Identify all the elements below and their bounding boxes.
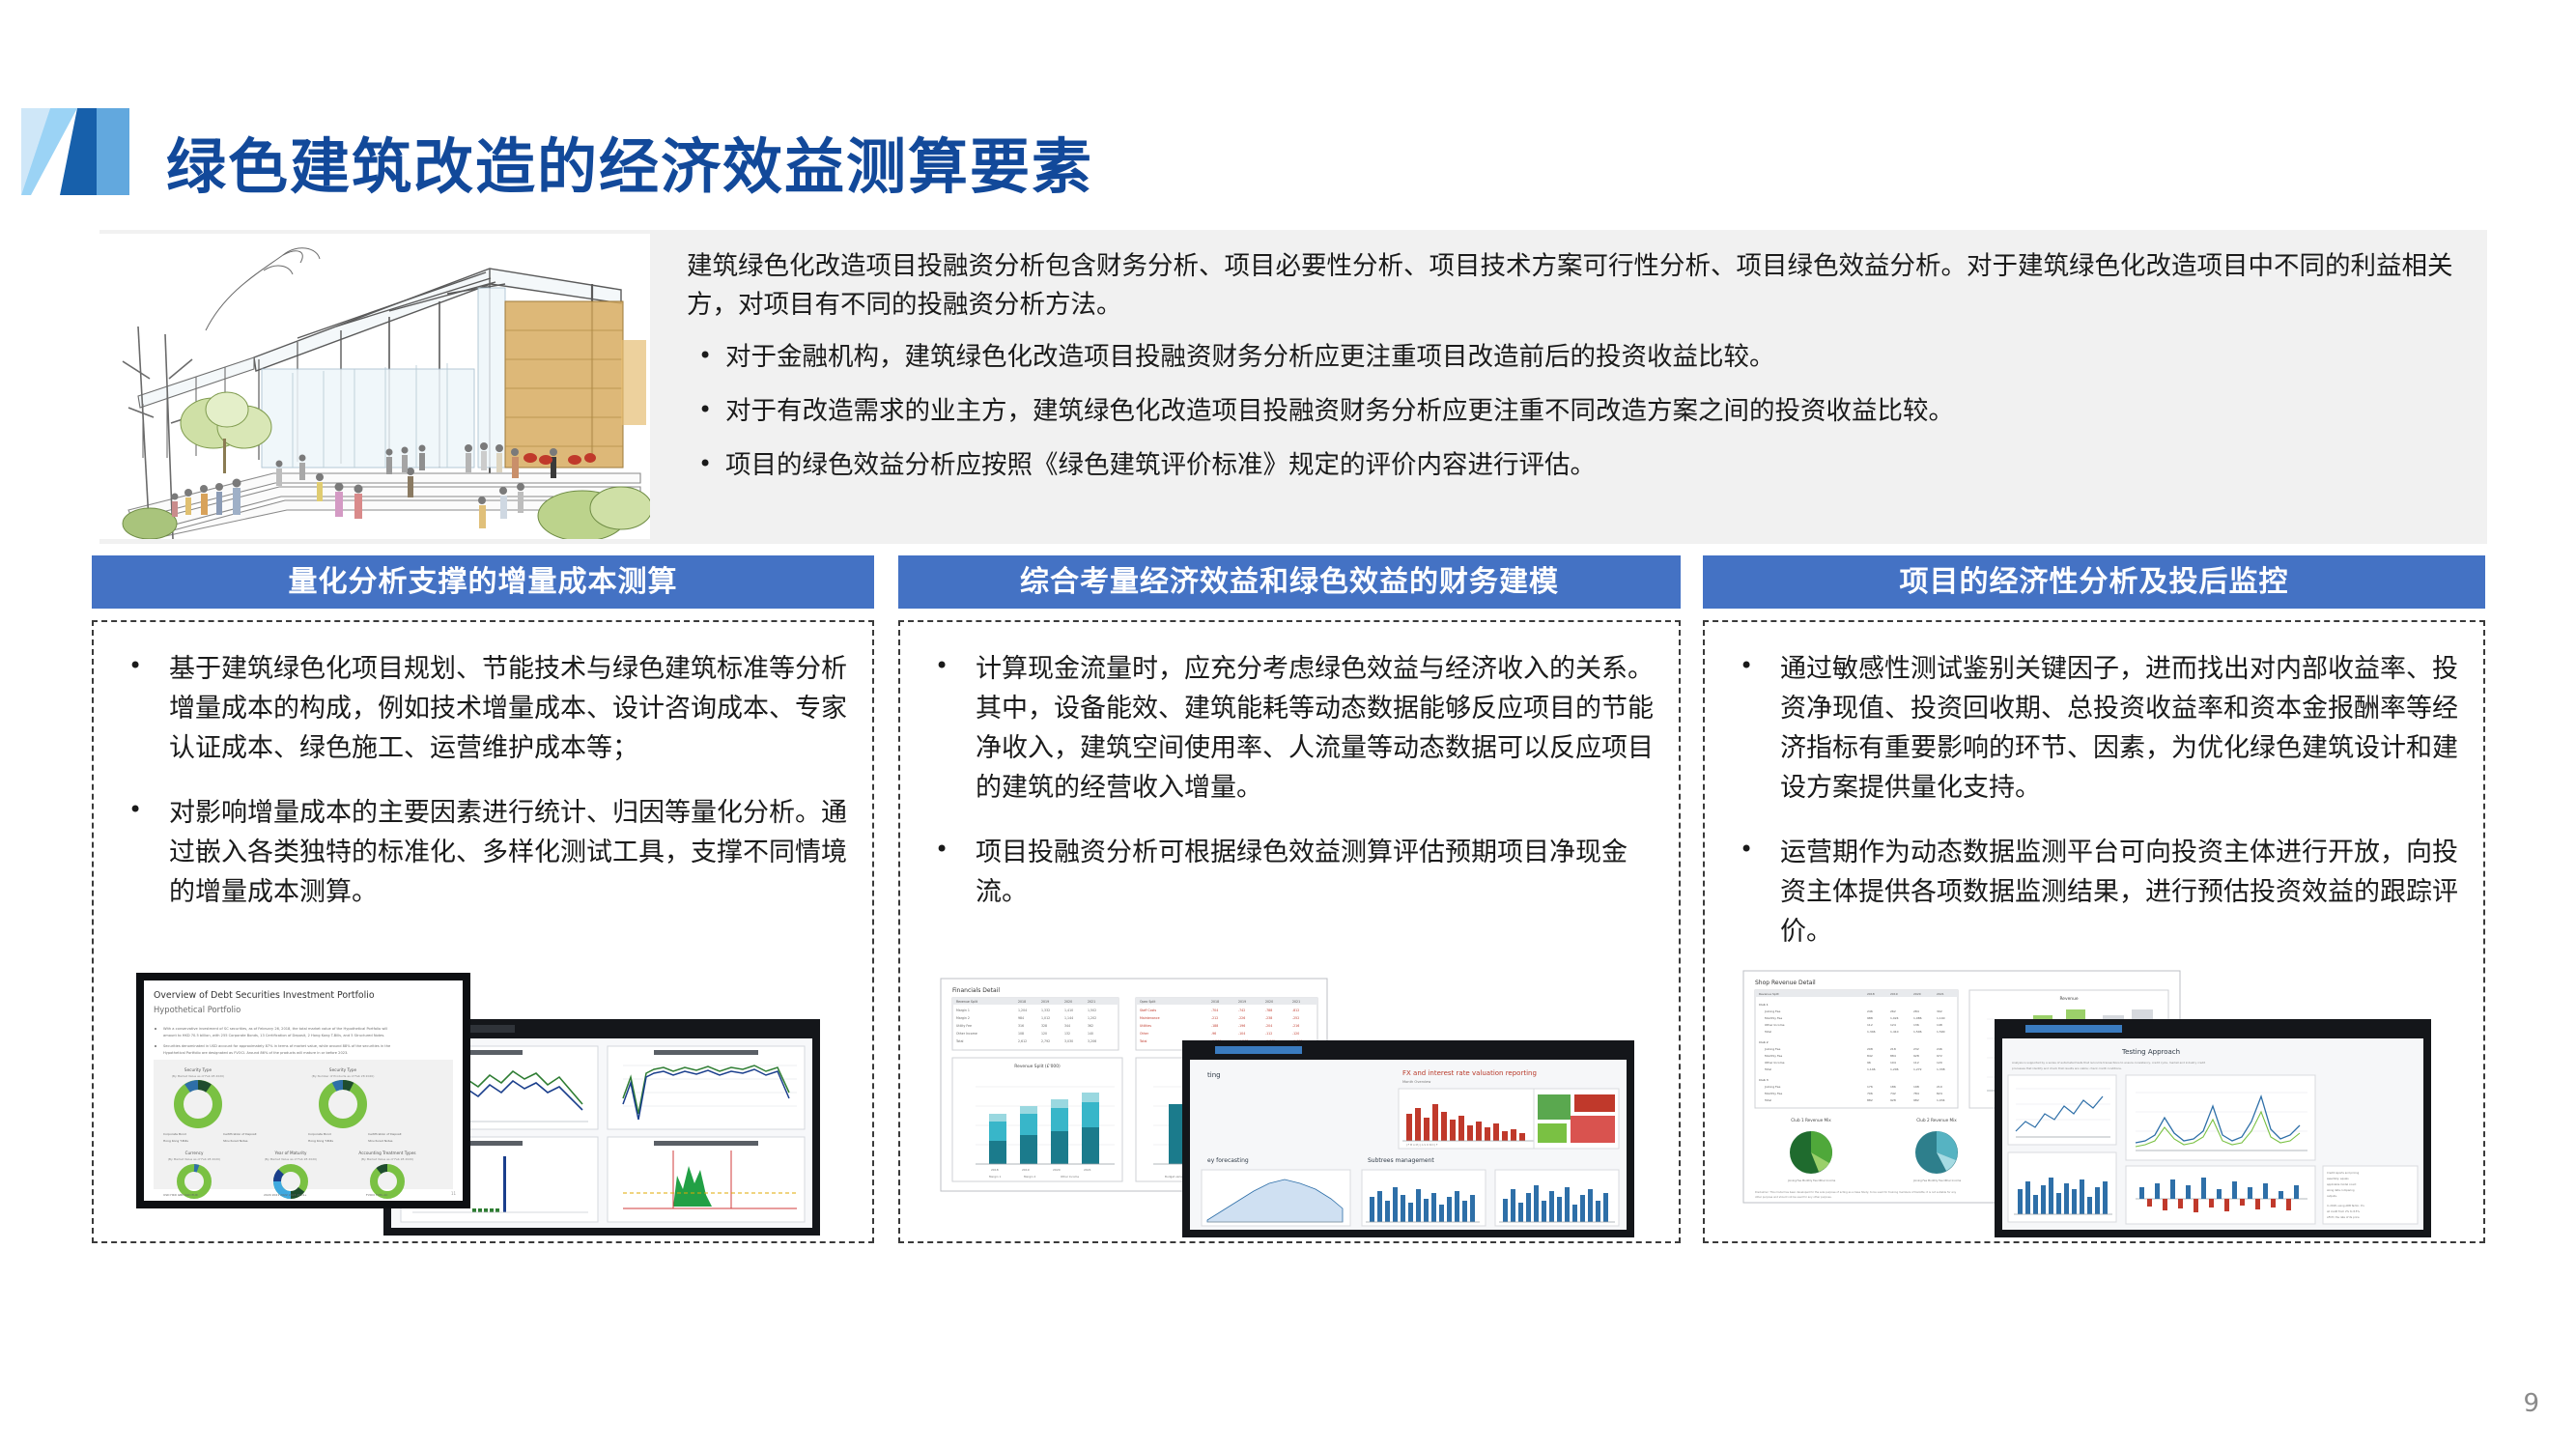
svg-text:Joining Fee: Joining Fee [1764, 1085, 1780, 1089]
svg-text:2019: 2019 [1238, 1000, 1246, 1004]
svg-text:Accounting Treatment Types: Accounting Treatment Types [358, 1151, 415, 1155]
svg-text:328: 328 [1041, 1024, 1047, 1028]
svg-text:Joining Fee: Joining Fee [1764, 1009, 1780, 1013]
svg-text:-188: -188 [1211, 1024, 1218, 1028]
svg-text:1,506: 1,506 [1913, 1030, 1922, 1034]
svg-text:284: 284 [1913, 1009, 1919, 1013]
svg-text:Margin 2: Margin 2 [1024, 1175, 1035, 1179]
svg-text:176: 176 [1867, 1085, 1873, 1089]
svg-text:108: 108 [1018, 1032, 1024, 1036]
svg-text:884: 884 [1890, 1054, 1896, 1058]
svg-text:Other Income: Other Income [956, 1032, 977, 1036]
svg-text:2018: 2018 [1211, 1000, 1219, 1004]
svg-text:Club 2: Club 2 [1759, 1040, 1769, 1044]
svg-text:1,410: 1,410 [1890, 1030, 1899, 1034]
column-2-thumbnails: Financials Detail Revenue Split 20182019… [900, 952, 1679, 1241]
svg-text:362: 362 [1088, 1024, 1093, 1028]
svg-text:Total: Total [1764, 1030, 1771, 1034]
svg-text:Subtrees management: Subtrees management [1368, 1157, 1434, 1164]
svg-text:246: 246 [1867, 1009, 1873, 1013]
svg-text:2020: 2020 [1265, 1000, 1273, 1004]
svg-text:ey forecasting: ey forecasting [1207, 1157, 1249, 1164]
svg-text:Opex Split: Opex Split [1140, 1000, 1156, 1004]
svg-text:-112: -112 [1265, 1032, 1272, 1036]
svg-text:Certification of Deposit: Certification of Deposit [223, 1132, 257, 1136]
svg-text:1,024: 1,024 [1890, 1016, 1899, 1020]
column-3-header: 项目的经济性分析及投后监控 [1703, 555, 2485, 609]
svg-text:1,204: 1,204 [1018, 1009, 1027, 1012]
svg-text:Club 3: Club 3 [1759, 1078, 1769, 1082]
intro-panel: 建筑绿色化改造项目投融资分析包含财务分析、项目必要性分析、项目技术方案可行性分析… [99, 230, 2487, 544]
svg-text:982: 982 [1913, 1098, 1919, 1102]
intro-bullet-1: 对于金融机构，建筑绿色化改造项目投融资财务分析应更注重项目改造前后的投资收益比较… [687, 338, 2454, 377]
svg-text:Currency: Currency [185, 1151, 204, 1155]
svg-text:AFCH, the rate of its price: AFCH, the rate of its price [2327, 1215, 2360, 1219]
svg-text:FX and interest rate valuation: FX and interest rate valuation reporting [1402, 1069, 1537, 1077]
column-1-bullet-1: 基于建筑绿色化项目规划、节能技术与绿色建筑标准等分析增量成本的构成，例如技术增量… [103, 649, 851, 768]
svg-text:Margin 1: Margin 1 [956, 1009, 970, 1012]
svg-text:198: 198 [1913, 1085, 1919, 1089]
svg-text:outputs.: outputs. [2327, 1194, 2337, 1198]
svg-text:120: 120 [1041, 1032, 1047, 1036]
svg-text:Club 1 Revenue Mix: Club 1 Revenue Mix [1791, 1118, 1831, 1122]
svg-text:Corporate Bond: Corporate Bond [308, 1132, 331, 1136]
svg-text:132: 132 [1064, 1032, 1070, 1036]
svg-text:-812: -812 [1292, 1009, 1299, 1012]
svg-text:Monthly Fee: Monthly Fee [1765, 1092, 1782, 1095]
svg-text:J F M A M J J A S O N D J F: J F M A M J J A S O N D J F [1405, 1143, 1438, 1147]
column-1-bullet-list: 基于建筑绿色化项目规划、节能技术与绿色建筑标准等分析增量成本的构成，例如技术增量… [94, 622, 872, 912]
svg-text:302: 302 [1937, 1009, 1942, 1013]
svg-text:1,206: 1,206 [1890, 1067, 1899, 1071]
svg-text:Club 1: Club 1 [1759, 1003, 1769, 1007]
svg-text:2020: 2020 [1064, 1000, 1072, 1004]
svg-text:Structured Notes: Structured Notes [223, 1139, 248, 1143]
svg-text:Structured Notes: Structured Notes [368, 1139, 393, 1143]
page-number: 9 [2523, 1389, 2539, 1418]
svg-text:(By Market Value as of Feb 28: (By Market Value as of Feb 28 2020) [361, 1157, 413, 1161]
svg-text:Total: Total [1764, 1098, 1771, 1102]
svg-text:1,502: 1,502 [1088, 1009, 1096, 1012]
svg-text:(By Market Value as of Feb 28: (By Market Value as of Feb 28 2020) [265, 1157, 317, 1161]
svg-text:2,612: 2,612 [1018, 1039, 1027, 1043]
svg-text:Margin 2: Margin 2 [956, 1016, 970, 1020]
svg-text:988: 988 [1867, 1016, 1873, 1020]
svg-text:-212: -212 [1211, 1016, 1218, 1020]
page-title: 绿色建筑改造的经济效益测算要素 [166, 118, 1093, 205]
svg-text:210: 210 [1937, 1085, 1942, 1089]
svg-text:928: 928 [1890, 1098, 1896, 1102]
svg-text:-238: -238 [1265, 1016, 1272, 1020]
svg-text:Joining Fee Monthly Fee Ot: Joining Fee Monthly Fee Other Income [1912, 1179, 1962, 1182]
svg-text:assembly; equals: assembly; equals [2327, 1177, 2349, 1180]
svg-text:2019: 2019 [1890, 992, 1898, 996]
svg-text:2021: 2021 [1084, 1168, 1091, 1172]
svg-text:1,012: 1,012 [1041, 1016, 1050, 1020]
svg-text:2021: 2021 [1292, 1000, 1300, 1004]
svg-text:Monthly Fee: Monthly Fee [1765, 1016, 1782, 1020]
svg-text:applicable model count: applicable model count [2327, 1182, 2356, 1186]
svg-text:Utility Fee: Utility Fee [956, 1024, 972, 1028]
svg-text:Staff Costs: Staff Costs [1140, 1009, 1157, 1012]
svg-text:Revenue Split (£'000): Revenue Split (£'000) [1014, 1064, 1061, 1069]
svg-text:2,792: 2,792 [1041, 1039, 1050, 1043]
column-3-thumbnails: Shop Revenue Detail Revenue Split 201820… [1705, 952, 2483, 1241]
column-2-bullet-1: 计算现金流量时，应充分考虑绿色效益与经济收入的关系。其中，设备能效、建筑能耗等动… [910, 649, 1657, 808]
svg-text:2021: 2021 [1088, 1000, 1095, 1004]
svg-text:Total: Total [1139, 1039, 1147, 1043]
svg-text:Certification of Deposit: Certification of Deposit [368, 1132, 402, 1136]
svg-text:3,030: 3,030 [1064, 1039, 1073, 1043]
svg-text:-96: -96 [1211, 1032, 1216, 1036]
svg-text:2018: 2018 [991, 1168, 999, 1172]
svg-text:Other Income: Other Income [1061, 1175, 1079, 1179]
svg-text:Maintenance: Maintenance [1140, 1016, 1160, 1020]
svg-text:(By Market Value as of Feb 28: (By Market Value as of Feb 28 2020) [172, 1074, 224, 1078]
svg-text:-226: -226 [1238, 1016, 1245, 1020]
svg-text:186: 186 [1890, 1085, 1896, 1089]
svg-text:1,332: 1,332 [1041, 1009, 1050, 1012]
n-logo [21, 108, 129, 195]
svg-text:-704: -704 [1211, 1009, 1218, 1012]
svg-text:Total: Total [955, 1039, 964, 1043]
svg-text:Corporate Bond: Corporate Bond [163, 1132, 186, 1136]
svg-text:ting: ting [1207, 1071, 1221, 1079]
column-2-bullet-2: 项目投融资分析可根据绿色效益测算评估预期项目净现金流。 [910, 833, 1657, 912]
svg-text:2020 2021 2022 2023 2024+: 2020 2021 2022 2023 2024+ [264, 1193, 307, 1197]
svg-text:Revenue Split: Revenue Split [1759, 992, 1779, 996]
svg-text:Club 2 Revenue Mix: Club 2 Revenue Mix [1916, 1118, 1957, 1122]
svg-text:-216: -216 [1292, 1024, 1299, 1028]
thumb-doc-title-3: Shop Revenue Detail [1755, 980, 1816, 986]
svg-text:Year of Maturity: Year of Maturity [273, 1151, 307, 1155]
svg-text:(By Number of Products as of F: (By Number of Products as of Feb 28 2020… [312, 1074, 375, 1078]
thumb-doc-subtitle: Hypothetical Portfolio [154, 1005, 241, 1014]
svg-text:along data comparing: along data comparing [2327, 1188, 2355, 1192]
svg-text:all credit from 2% to 8.5%: all credit from 2% to 8.5% [2327, 1209, 2360, 1213]
svg-text:Joining Fee Monthly Fee Ot: Joining Fee Monthly Fee Other Income [1787, 1179, 1836, 1182]
column-1-header: 量化分析支撑的增量成本测算 [92, 555, 874, 609]
column-3-bullet-2: 运营期作为动态数据监测平台可向投资主体进行开放，向投资主体提供各项数据监测结果，… [1714, 833, 2462, 952]
intro-paragraph: 建筑绿色化改造项目投融资分析包含财务分析、项目必要性分析、项目技术方案可行性分析… [687, 247, 2454, 325]
svg-text:112: 112 [1867, 1023, 1873, 1027]
svg-text:Testing Approach: Testing Approach [2121, 1048, 2180, 1056]
svg-text:1,590: 1,590 [1937, 1030, 1945, 1034]
svg-text:2020: 2020 [1913, 992, 1921, 996]
svg-text:344: 344 [1064, 1024, 1070, 1028]
column-2-body: 计算现金流量时，应充分考虑绿色效益与经济收入的关系。其中，设备能效、建筑能耗等动… [898, 620, 1681, 1243]
svg-text:2018: 2018 [1018, 1000, 1026, 1004]
thumb-doc-title-2: Financials Detail [952, 987, 1000, 994]
svg-text:In 2018, using ADB factor, it': In 2018, using ADB factor, it's [2327, 1204, 2364, 1207]
svg-text:Hypothetical Portfolio are des: Hypothetical Portfolio are designated as… [163, 1051, 348, 1055]
svg-text:1,140: 1,140 [1937, 1016, 1945, 1020]
svg-text:262: 262 [1890, 1009, 1896, 1013]
svg-text:824: 824 [1937, 1092, 1942, 1095]
svg-text:1,202: 1,202 [1088, 1016, 1096, 1020]
svg-text:1,146: 1,146 [1867, 1067, 1876, 1071]
column-1-bullet-2: 对影响增量成本的主要因素进行统计、归因等量化分析。通过嵌入各类独特的标准化、多样… [103, 793, 851, 912]
svg-text:processes that identify and ch: processes that identify and check that r… [2012, 1066, 2122, 1070]
column-2-header: 综合考量经济效益和绿色效益的财务建模 [898, 555, 1681, 609]
column-3-bullet-list: 通过敏感性测试鉴别关键因子，进而找出对内部收益率、投资净现值、投资回收期、总投资… [1705, 622, 2483, 952]
intro-bullet-3: 项目的绿色效益分析应按照《绿色建筑评价标准》规定的评价内容进行评估。 [687, 446, 2454, 485]
svg-text:Margin 1: Margin 1 [989, 1175, 1001, 1179]
svg-text:-742: -742 [1238, 1009, 1245, 1012]
column-financial-modeling: 综合考量经济效益和绿色效益的财务建模 计算现金流量时，应充分考虑绿色效益与经济收… [898, 555, 1681, 1243]
column-economic-analysis: 项目的经济性分析及投后监控 通过敏感性测试鉴别关键因子，进而找出对内部收益率、投… [1703, 555, 2485, 1243]
svg-text:136: 136 [1913, 1023, 1919, 1027]
svg-text:784: 784 [1913, 1092, 1919, 1095]
svg-text:842: 842 [1867, 1054, 1873, 1058]
svg-text:2019: 2019 [1022, 1168, 1030, 1172]
svg-text:-104: -104 [1238, 1032, 1245, 1036]
column-1-body: 基于建筑绿色化项目规划、节能技术与绿色建筑标准等分析增量成本的构成，例如技术增量… [92, 620, 874, 1243]
svg-text:928: 928 [1913, 1054, 1919, 1058]
svg-text:Joining Fee: Joining Fee [1764, 1047, 1780, 1051]
svg-text:Other: Other [1140, 1032, 1149, 1036]
svg-text:148: 148 [1937, 1023, 1942, 1027]
svg-text:2019: 2019 [1041, 1000, 1049, 1004]
svg-text:Hong Kong T-Bills: Hong Kong T-Bills [308, 1139, 333, 1143]
svg-text:706: 706 [1867, 1092, 1873, 1095]
svg-text:FVOCI FVPL AC: FVOCI FVPL AC [366, 1193, 387, 1197]
svg-text:Month Overview: Month Overview [1402, 1080, 1430, 1084]
intro-text-block: 建筑绿色化改造项目投融资分析包含财务分析、项目必要性分析、项目技术方案可行性分析… [687, 247, 2454, 500]
column-3-body: 通过敏感性测试鉴别关键因子，进而找出对内部收益率、投资净现值、投资回收期、总投资… [1703, 620, 2485, 1243]
svg-text:Other Income: Other Income [1765, 1023, 1785, 1027]
svg-text:Hong Kong T-Bills: Hong Kong T-Bills [163, 1139, 188, 1143]
svg-text:882: 882 [1867, 1098, 1873, 1102]
thumb-doc-title: Overview of Debt Securities Investment P… [154, 990, 375, 1001]
svg-text:-120: -120 [1292, 1032, 1299, 1036]
svg-text:Total: Total [1764, 1067, 1771, 1071]
svg-text:1,410: 1,410 [1064, 1009, 1073, 1012]
svg-text:-252: -252 [1292, 1016, 1299, 1020]
svg-text:-204: -204 [1265, 1024, 1272, 1028]
svg-text:316: 316 [1018, 1024, 1024, 1028]
svg-text:1,346: 1,346 [1867, 1030, 1876, 1034]
svg-text:972: 972 [1937, 1054, 1942, 1058]
svg-text:Disclaimer: This model has bee: Disclaimer: This model has been develope… [1755, 1190, 1957, 1194]
svg-text:-196: -196 [1238, 1024, 1245, 1028]
svg-text:Other Income: Other Income [1765, 1061, 1785, 1065]
svg-text:96: 96 [1867, 1061, 1871, 1065]
svg-text:1,338: 1,338 [1937, 1067, 1945, 1071]
svg-text:Revenue: Revenue [2059, 996, 2078, 1002]
svg-text:With a conservative investment: With a conservative investment of SC sec… [163, 1027, 387, 1031]
svg-text:Security Type: Security Type [184, 1067, 212, 1072]
green-building-sketch [99, 234, 650, 539]
svg-text:USD HKD GBP SGD EUR: USD HKD GBP SGD EUR [163, 1193, 198, 1197]
svg-text:1,144: 1,144 [1064, 1016, 1073, 1020]
intro-bullet-list: 对于金融机构，建筑绿色化改造项目投融资财务分析应更注重项目改造前后的投资收益比较… [687, 338, 2454, 485]
svg-text:Monthly Fee: Monthly Fee [1765, 1054, 1782, 1058]
svg-text:104: 104 [1890, 1061, 1896, 1065]
svg-text:1,086: 1,086 [1913, 1016, 1922, 1020]
svg-text:3,206: 3,206 [1088, 1039, 1096, 1043]
svg-text:Security Type: Security Type [329, 1067, 357, 1072]
svg-text:Analysis is supported by a ser: Analysis is supported by a series of aut… [2012, 1061, 2206, 1065]
column-incremental-cost: 量化分析支撑的增量成本测算 基于建筑绿色化项目规划、节能技术与绿色建筑标准等分析… [92, 555, 874, 1243]
svg-text:2020: 2020 [1053, 1168, 1061, 1172]
column-1-thumbnails: Overview of Debt Securities Investment P… [94, 952, 872, 1241]
svg-text:(By Market Value as of Feb 28: (By Market Value as of Feb 28 2020) [168, 1157, 220, 1161]
svg-text:232: 232 [1913, 1047, 1919, 1051]
svg-text:other purpose and should not b: other purpose and should not be used for… [1755, 1195, 1832, 1199]
svg-text:1,272: 1,272 [1913, 1067, 1922, 1071]
svg-text:112: 112 [1913, 1061, 1919, 1065]
svg-text:120: 120 [1937, 1061, 1942, 1065]
svg-text:246: 246 [1937, 1047, 1942, 1051]
svg-text:Securities denominated in USD: Securities denominated in USD account fo… [163, 1044, 391, 1048]
svg-text:Credit reports and pricing: Credit reports and pricing [2327, 1171, 2360, 1175]
intro-bullet-2: 对于有改造需求的业主方，建筑绿色化改造项目投融资财务分析应更注重不同改造方案之间… [687, 392, 2454, 431]
svg-text:amount to HKD 70.5 billion, wi: amount to HKD 70.5 billion, with 255 Cor… [163, 1034, 384, 1037]
svg-text:2021: 2021 [1937, 992, 1944, 996]
svg-text:Utilities: Utilities [1140, 1024, 1151, 1028]
svg-text:2018: 2018 [1867, 992, 1875, 996]
svg-text:984: 984 [1018, 1016, 1024, 1020]
svg-text:208: 208 [1867, 1047, 1873, 1051]
column-3-bullet-1: 通过敏感性测试鉴别关键因子，进而找出对内部收益率、投资净现值、投资回收期、总投资… [1714, 649, 2462, 808]
svg-text:11: 11 [451, 1191, 457, 1196]
svg-text:Revenue Split: Revenue Split [956, 1000, 978, 1004]
svg-text:140: 140 [1088, 1032, 1093, 1036]
svg-text:1,034: 1,034 [1937, 1098, 1945, 1102]
svg-text:218: 218 [1890, 1047, 1896, 1051]
svg-text:124: 124 [1890, 1023, 1896, 1027]
svg-text:-788: -788 [1265, 1009, 1272, 1012]
svg-text:742: 742 [1890, 1092, 1896, 1095]
column-2-bullet-list: 计算现金流量时，应充分考虑绿色效益与经济收入的关系。其中，设备能效、建筑能耗等动… [900, 622, 1679, 912]
